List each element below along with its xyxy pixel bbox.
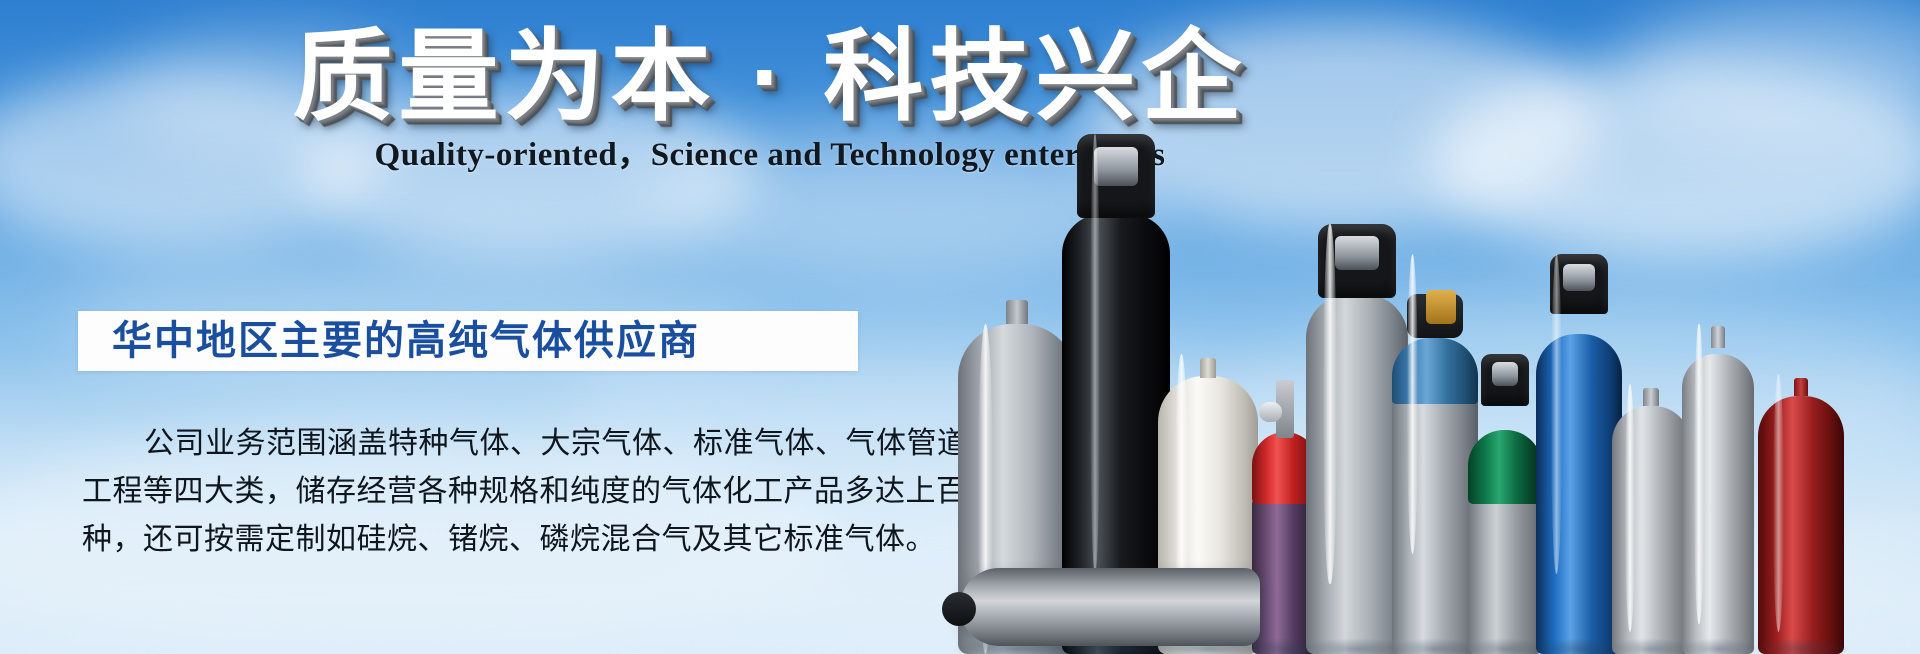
description-line: 种，还可按需定制如硅烷、锗烷、磷烷混合气及其它标准气体。 [82,516,872,564]
promo-banner: 质量为本 · 科技兴企 Quality-oriented，Science and… [0,0,1920,654]
cylinder-blue-bright [1536,254,1622,654]
cylinder-silver-small [1682,324,1754,654]
cylinder-green-small [1468,354,1542,654]
cylinder-dark-red [1758,374,1844,654]
cylinder-lying-gray [960,568,1260,646]
cylinder-blue-steel [1392,254,1478,654]
banner-description: 公司业务范围涵盖特种气体、大宗气体、标准气体、气体管道 工程等四大类，储存经营各… [82,420,872,564]
cylinder-silver-small [1612,384,1690,654]
gas-cylinder-group [940,0,1920,654]
slogan-text: 华中地区主要的高纯气体供应商 [78,319,700,363]
description-line: 公司业务范围涵盖特种气体、大宗气体、标准气体、气体管道 [82,420,872,468]
cylinder-lying-valve [942,592,976,626]
description-line: 工程等四大类，储存经营各种规格和纯度的气体化工产品多达上百 [82,468,872,516]
slogan-box: 华中地区主要的高纯气体供应商 [78,311,858,371]
